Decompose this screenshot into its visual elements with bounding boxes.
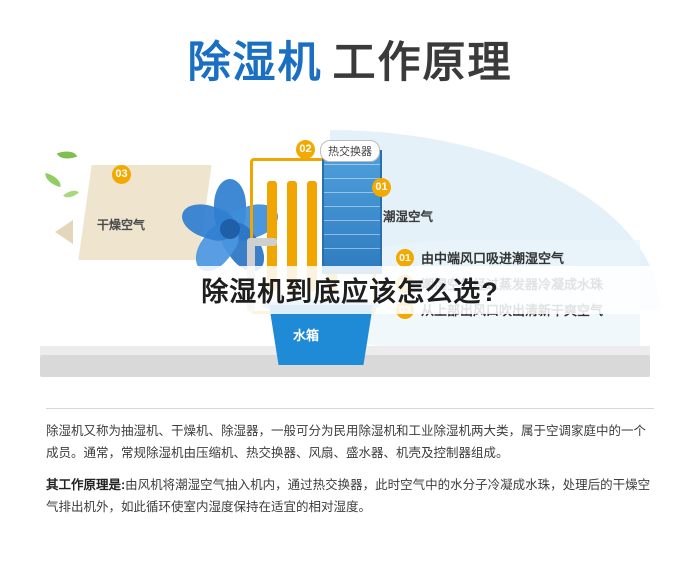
article-body: 除湿机又称为抽湿机、干燥机、除湿器，一般可分为民用除湿机和工业除湿机两大类，属于… <box>46 420 658 528</box>
legend-item: 01 由中端风口吸进潮湿空气 <box>396 248 696 267</box>
humid-air-label: 潮湿空气 <box>383 206 433 225</box>
overlay-headline: 除湿机到底应该怎么选? <box>0 270 700 309</box>
body-paragraph-2-lead: 其工作原理是: <box>46 478 125 492</box>
body-paragraph-2: 其工作原理是:由风机将潮湿空气抽入机内，通过热交换器，此时空气中的水分子冷凝成水… <box>46 474 658 518</box>
leaf-icon <box>57 147 77 163</box>
badge-02-diagram: 02 <box>296 140 315 159</box>
dry-air-arrow-icon <box>55 220 73 244</box>
exchanger-fin <box>324 192 380 193</box>
exchanger-fin <box>324 164 380 165</box>
leaf-icon <box>43 173 63 187</box>
legend-text-01: 由中端风口吸进潮湿空气 <box>421 248 564 267</box>
page-title-dark: 工作原理 <box>333 39 513 87</box>
dry-air-label: 干燥空气 <box>97 216 145 233</box>
water-tank-label: 水箱 <box>293 325 319 344</box>
leaf-icon <box>63 186 79 201</box>
legend-badge-01: 01 <box>396 249 414 267</box>
page-title-blue: 除湿机 <box>188 39 323 87</box>
body-paragraph-2-text: 由风机将潮湿空气抽入机内，通过热交换器，此时空气中的水分子冷凝成水珠，处理后的干… <box>46 478 650 514</box>
heat-exchanger-block <box>322 150 382 274</box>
content-divider <box>46 408 654 409</box>
page-title: 除湿机工作原理 <box>0 28 700 90</box>
exchanger-fin <box>324 248 380 249</box>
heat-exchanger-callout: 热交换器 <box>320 140 380 162</box>
water-tank <box>262 305 380 365</box>
fan-hub <box>220 219 240 239</box>
badge-01-diagram: 01 <box>372 178 391 197</box>
exchanger-fin <box>324 234 380 235</box>
body-paragraph-1: 除湿机又称为抽湿机、干燥机、除湿器，一般可分为民用除湿机和工业除湿机两大类，属于… <box>46 420 658 464</box>
badge-03-diagram: 03 <box>112 165 131 184</box>
exchanger-fin <box>324 220 380 221</box>
exchanger-fin <box>324 178 380 179</box>
page-root: 除湿机工作原理 干燥空气 03 <box>0 0 700 566</box>
exchanger-fin <box>324 206 380 207</box>
